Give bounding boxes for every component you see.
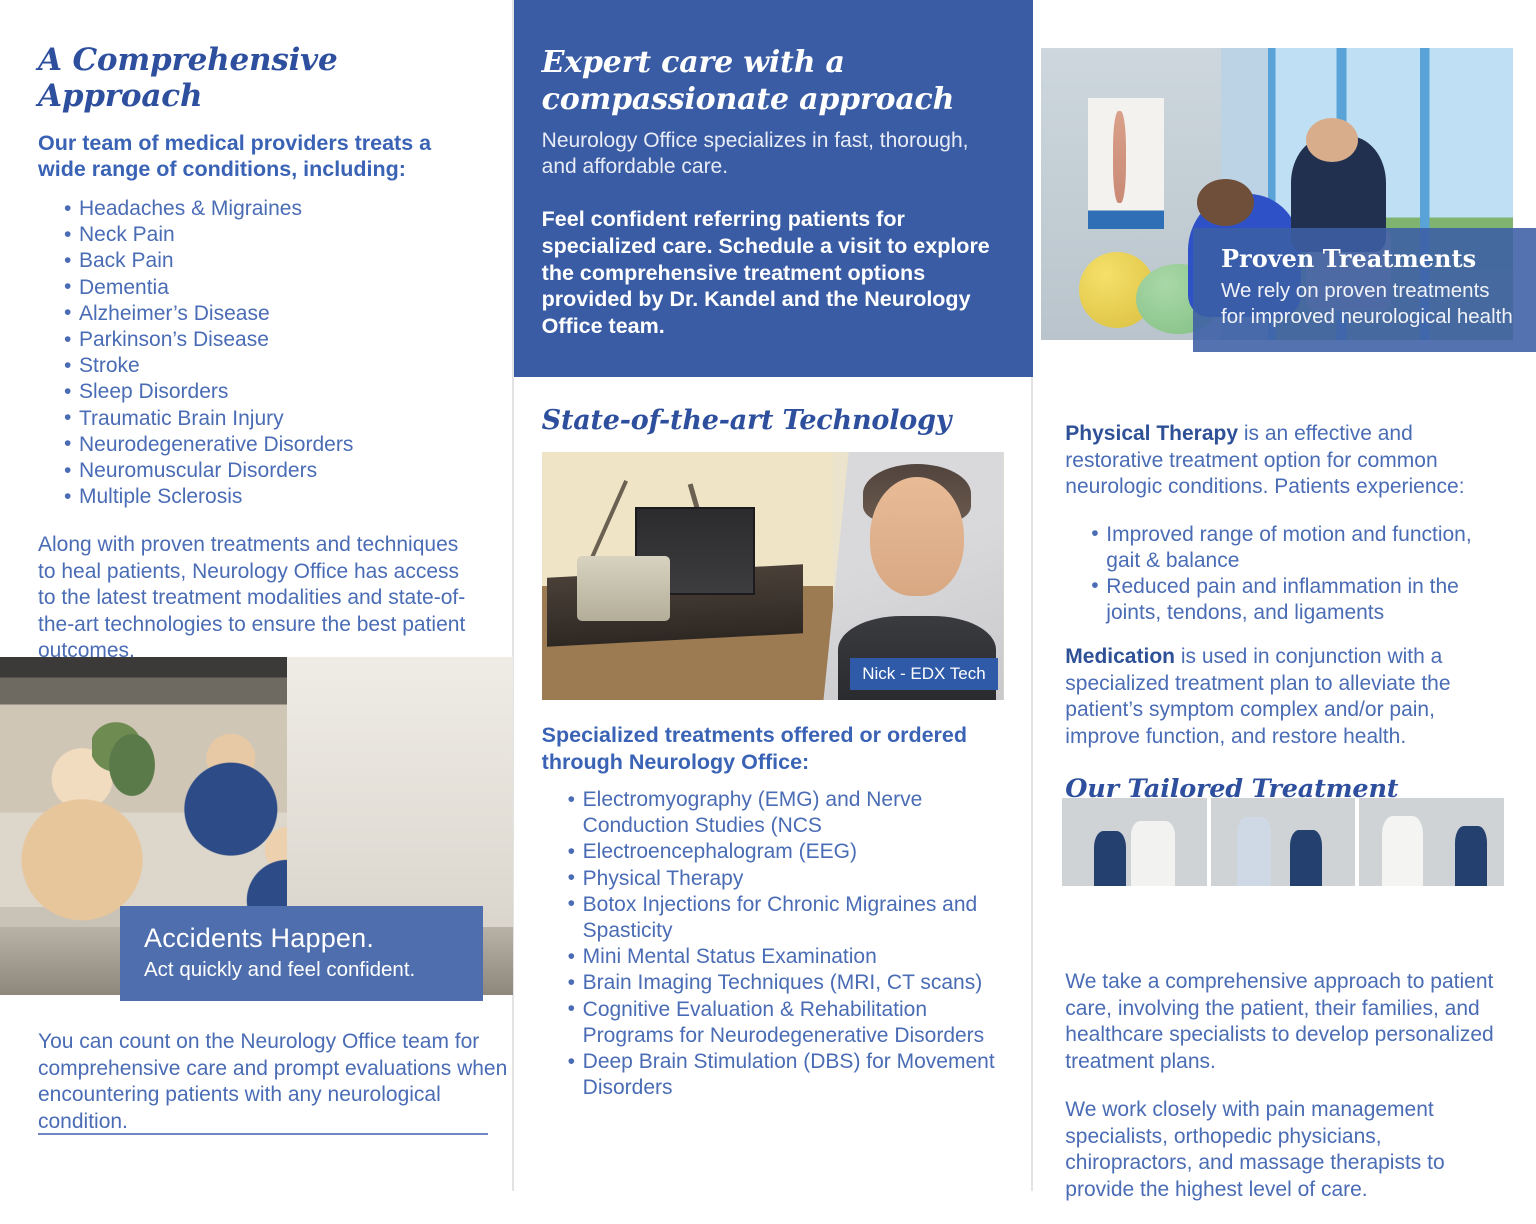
- pt-therapist-head: [1306, 118, 1358, 162]
- accidents-happen-caption: Accidents Happen. Act quickly and feel c…: [120, 906, 483, 1001]
- page-title: A Comprehensive Approach: [38, 42, 474, 114]
- condition-list-item: Stroke: [64, 353, 474, 379]
- condition-list-item: Sleep Disorders: [64, 379, 474, 405]
- condition-list-item: Dementia: [64, 275, 474, 301]
- treatment-list-item: Mini Mental Status Examination: [568, 944, 1005, 970]
- pt-benefits-list: Improved range of motion and function, g…: [1065, 522, 1505, 627]
- hero-subtitle: Neurology Office specializes in fast, th…: [542, 128, 1003, 180]
- pt-benefit-list-item: Reduced pain and inflammation in the joi…: [1091, 574, 1505, 626]
- condition-list-item: Headaches & Migraines: [64, 196, 474, 222]
- condition-list-item: Neuromuscular Disorders: [64, 458, 474, 484]
- column1-closing-paragraph: You can count on the Neurology Office te…: [38, 1029, 508, 1135]
- hero-panel: Expert care with a compassionate approac…: [514, 0, 1033, 377]
- column-comprehensive-approach: A Comprehensive Approach Our team of med…: [0, 0, 512, 1191]
- physical-therapy-label: Physical Therapy: [1065, 422, 1238, 445]
- collage-photo-2: [1211, 798, 1356, 886]
- column1-divider-rule: [38, 1133, 488, 1135]
- treatment-list-item: Cognitive Evaluation & Rehabilitation Pr…: [568, 997, 1005, 1049]
- photo-plant: [92, 711, 172, 801]
- medication-paragraph: Medication is used in conjunction with a…: [1065, 644, 1505, 750]
- treatment-list-item: Brain Imaging Techniques (MRI, CT scans): [568, 970, 1005, 996]
- column1-content: A Comprehensive Approach Our team of med…: [0, 42, 512, 665]
- medication-label: Medication: [1065, 645, 1175, 668]
- treatment-list-item: Deep Brain Stimulation (DBS) for Movemen…: [568, 1049, 1005, 1101]
- column-expert-care: Expert care with a compassionate approac…: [514, 0, 1032, 1191]
- treatment-list-item: Physical Therapy: [568, 866, 1005, 892]
- proven-treatments-overlay: Proven Treatments We rely on proven trea…: [1193, 228, 1536, 352]
- technology-heading: State-of-the-art Technology: [542, 405, 1005, 436]
- emg-equipment-photo: Nick - EDX Tech: [542, 452, 1004, 700]
- condition-list-item: Alzheimer’s Disease: [64, 301, 474, 327]
- equipment-arm-left: [588, 480, 628, 563]
- condition-list-item: Neurodegenerative Disorders: [64, 432, 474, 458]
- treatment-list-item: Botox Injections for Chronic Migraines a…: [568, 892, 1005, 944]
- condition-list-item: Parkinson’s Disease: [64, 327, 474, 353]
- technology-section: State-of-the-art Technology Nick - EDX T…: [514, 377, 1033, 1101]
- collage-photo-3: [1359, 798, 1504, 886]
- condition-list-item: Back Pain: [64, 248, 474, 274]
- condition-list-item: Neck Pain: [64, 222, 474, 248]
- physical-therapy-paragraph: Physical Therapy is an effective and res…: [1065, 421, 1505, 501]
- treatment-list-item: Electroencephalogram (EEG): [568, 839, 1005, 865]
- specialized-treatments-list: Electromyography (EMG) and Nerve Conduct…: [542, 787, 1005, 1101]
- spine-anatomy-poster: [1088, 98, 1164, 229]
- column-treatments: Physical Therapy is an effective and res…: [1033, 0, 1536, 1191]
- proven-treatments-subtitle: We rely on proven treatments for improve…: [1221, 278, 1514, 330]
- tailored-paragraph-1: We take a comprehensive approach to pati…: [1065, 969, 1505, 1075]
- treatment-list-item: Electromyography (EMG) and Nerve Conduct…: [568, 787, 1005, 839]
- hero-title-line2: compassionate approach: [542, 82, 955, 117]
- portrait-face: [870, 477, 964, 596]
- column1-paragraph: Along with proven treatments and techniq…: [38, 532, 474, 665]
- pt-benefit-list-item: Improved range of motion and function, g…: [1091, 522, 1505, 574]
- conditions-list: Headaches & MigrainesNeck PainBack PainD…: [38, 196, 474, 510]
- condition-list-item: Traumatic Brain Injury: [64, 406, 474, 432]
- accidents-subtitle: Act quickly and feel confident.: [144, 957, 483, 983]
- pt-patient-head: [1197, 179, 1254, 226]
- hero-call-to-action: Feel confident referring patients for sp…: [542, 206, 1003, 340]
- collage-photo-1: [1062, 798, 1207, 886]
- proven-treatments-title: Proven Treatments: [1221, 244, 1514, 274]
- emg-console: [577, 556, 670, 620]
- brochure-page: A Comprehensive Approach Our team of med…: [0, 0, 1536, 1191]
- condition-list-item: Multiple Sclerosis: [64, 484, 474, 510]
- accidents-title: Accidents Happen.: [144, 922, 483, 954]
- column1-lead: Our team of medical providers treats a w…: [38, 130, 474, 182]
- tailored-paragraph-2: We work closely with pain management spe…: [1065, 1097, 1505, 1203]
- hero-title-line1: Expert care with a: [542, 45, 845, 80]
- care-team-collage: [1062, 798, 1504, 886]
- technician-name-tag: Nick - EDX Tech: [850, 658, 997, 690]
- emg-machine-scene: [542, 452, 833, 700]
- treatments-lead: Specialized treatments offered or ordere…: [542, 722, 1005, 775]
- hero-title: Expert care with a compassionate approac…: [542, 44, 1003, 118]
